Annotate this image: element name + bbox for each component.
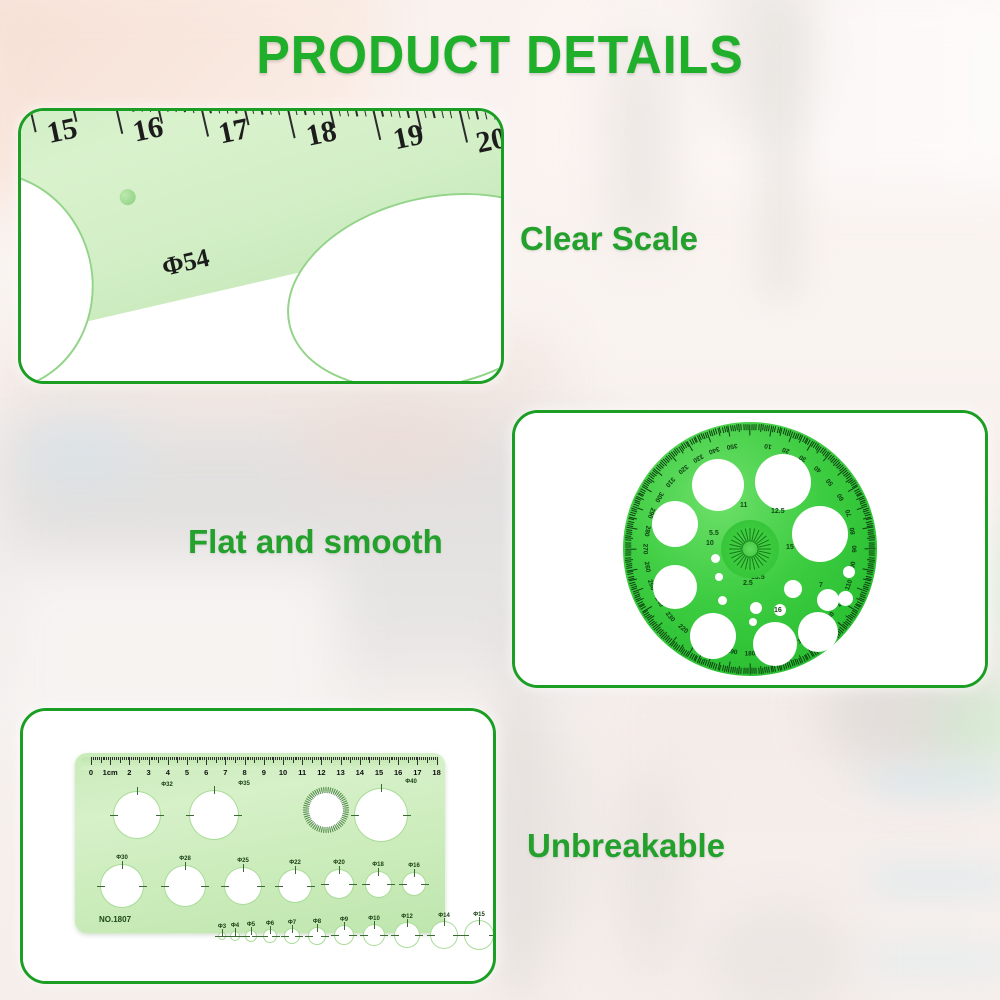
scale-tick bbox=[268, 757, 269, 760]
ruler-tick bbox=[60, 108, 65, 110]
scale-tick bbox=[348, 757, 349, 760]
hole-size-label: 15 bbox=[786, 544, 794, 551]
scale-tick bbox=[364, 757, 365, 760]
scale-tick bbox=[104, 757, 105, 760]
hole-crosshair bbox=[260, 936, 268, 937]
hole-size-label: Φ3 bbox=[218, 924, 226, 930]
scale-tick bbox=[410, 757, 411, 760]
template-hole bbox=[190, 791, 238, 839]
protractor-degree-label: 330 bbox=[691, 452, 704, 463]
protractor-degree-label: 90 bbox=[852, 545, 859, 552]
scale-number: 17 bbox=[413, 768, 421, 777]
scale-tick bbox=[191, 757, 192, 760]
scale-number: 8 bbox=[243, 768, 247, 777]
scale-tick bbox=[168, 757, 169, 765]
protractor-tick bbox=[760, 424, 762, 432]
hole-crosshair bbox=[321, 884, 329, 885]
protractor-tick bbox=[625, 557, 631, 558]
hole-size-label: 11 bbox=[740, 502, 747, 509]
hole-size-label: Φ35 bbox=[238, 781, 250, 787]
hole-crosshair bbox=[272, 936, 280, 937]
protractor-degree-label: 280 bbox=[642, 525, 651, 537]
hole-size-label: Φ14 bbox=[438, 913, 450, 919]
protractor-tick bbox=[625, 540, 631, 541]
template-hole bbox=[753, 622, 797, 666]
scale-tick bbox=[208, 757, 209, 760]
scale-tick bbox=[250, 757, 251, 760]
scale-tick bbox=[176, 757, 177, 760]
scale-tick bbox=[385, 757, 386, 760]
scale-tick bbox=[320, 757, 321, 760]
scale-tick bbox=[233, 757, 234, 760]
hole-crosshair bbox=[242, 936, 250, 937]
hole-crosshair bbox=[414, 869, 415, 877]
scale-tick bbox=[341, 757, 342, 765]
template-hole bbox=[165, 866, 205, 906]
protractor-degree-label: 340 bbox=[708, 445, 721, 455]
feature-panel-flat-and-smooth: 1020304050607080901001101201301401501601… bbox=[512, 410, 988, 688]
hole-crosshair bbox=[137, 787, 138, 795]
caption-flat-and-smooth: Flat and smooth bbox=[188, 523, 443, 561]
scale-tick bbox=[325, 757, 326, 760]
scale-tick bbox=[416, 757, 417, 760]
scale-tick bbox=[277, 757, 278, 760]
scale-tick bbox=[283, 757, 284, 765]
scale-tick bbox=[400, 757, 401, 760]
scale-tick bbox=[333, 757, 334, 760]
scale-tick bbox=[398, 757, 399, 765]
scale-tick bbox=[270, 757, 271, 760]
scale-tick bbox=[197, 757, 198, 763]
hole-crosshair bbox=[185, 862, 186, 870]
scale-tick bbox=[369, 757, 370, 763]
scale-tick bbox=[281, 757, 282, 760]
hole-crosshair bbox=[234, 815, 242, 816]
hole-crosshair bbox=[186, 815, 194, 816]
hole-crosshair bbox=[380, 935, 388, 936]
scale-tick bbox=[368, 757, 369, 760]
hole-crosshair bbox=[407, 919, 408, 927]
hole-crosshair bbox=[97, 886, 105, 887]
scale-tick bbox=[291, 757, 292, 760]
hole-size-label: Φ9 bbox=[340, 917, 348, 923]
scale-tick bbox=[350, 757, 351, 763]
scale-tick bbox=[392, 757, 393, 760]
scale-tick bbox=[177, 757, 178, 763]
hole-crosshair bbox=[415, 935, 423, 936]
protractor-degree-label: 110 bbox=[844, 579, 854, 591]
hole-crosshair bbox=[339, 866, 340, 874]
protractor-tick bbox=[869, 555, 875, 556]
scale-tick bbox=[375, 757, 376, 760]
hole-crosshair bbox=[351, 815, 359, 816]
scale-number: 4 bbox=[166, 768, 170, 777]
scale-tick bbox=[408, 757, 409, 763]
protractor-tick bbox=[756, 424, 757, 430]
scale-tick bbox=[101, 757, 102, 763]
scale-tick bbox=[202, 757, 203, 760]
scale-tick bbox=[327, 757, 328, 760]
scale-tick bbox=[224, 757, 225, 760]
scale-tick bbox=[387, 757, 388, 760]
scale-tick bbox=[114, 757, 115, 760]
scale-tick bbox=[256, 757, 257, 760]
scale-tick bbox=[216, 757, 217, 763]
scale-tick bbox=[264, 757, 265, 765]
hole-crosshair bbox=[305, 936, 313, 937]
hole-size-label: Φ4 bbox=[231, 923, 239, 929]
hole-crosshair bbox=[427, 935, 435, 936]
hole-crosshair bbox=[403, 815, 411, 816]
scale-tick bbox=[323, 757, 324, 760]
scale-tick bbox=[287, 757, 288, 760]
hole-crosshair bbox=[110, 815, 118, 816]
protractor-degree-label: 230 bbox=[663, 610, 675, 623]
hole-crosshair bbox=[399, 884, 407, 885]
protractor-tick bbox=[747, 424, 748, 430]
page-title: PRODUCT DETAILS bbox=[35, 24, 965, 86]
caption-clear-scale: Clear Scale bbox=[520, 220, 698, 258]
caption-unbreakable: Unbreakable bbox=[527, 827, 725, 865]
scale-number: 9 bbox=[262, 768, 266, 777]
scale-tick bbox=[310, 757, 311, 760]
scale-tick bbox=[318, 757, 319, 760]
template-hole bbox=[784, 580, 802, 598]
hole-crosshair bbox=[270, 926, 271, 934]
protractor-degree-label: 40 bbox=[812, 464, 822, 474]
hole-size-label: 5.5 bbox=[709, 530, 719, 537]
scale-number: 11 bbox=[298, 768, 306, 777]
hole-crosshair bbox=[453, 935, 461, 936]
scale-tick bbox=[241, 757, 242, 760]
ruler-tick bbox=[52, 108, 57, 110]
scale-tick bbox=[112, 757, 113, 760]
scale-tick bbox=[293, 757, 294, 763]
feature-panel-unbreakable: 01cm23456789101112131415161718 Φ32Φ35Φ38… bbox=[20, 708, 496, 984]
protractor-tick bbox=[869, 557, 875, 558]
protractor-tick bbox=[762, 668, 764, 674]
scale-tick bbox=[406, 757, 407, 760]
scale-tick bbox=[225, 757, 226, 765]
scale-tick bbox=[239, 757, 240, 760]
protractor-tick bbox=[758, 668, 759, 674]
scale-tick bbox=[396, 757, 397, 760]
protractor-tick bbox=[741, 668, 742, 674]
mini-protractor-dial bbox=[303, 787, 349, 833]
protractor-degree-label: 300 bbox=[653, 490, 664, 503]
protractor-tick bbox=[747, 668, 748, 674]
scale-tick bbox=[377, 757, 378, 760]
scale-tick bbox=[394, 757, 395, 760]
protractor-degree-label: 270 bbox=[642, 544, 649, 555]
template-hole bbox=[843, 566, 855, 578]
hole-crosshair bbox=[307, 886, 315, 887]
protractor-degree-label: 70 bbox=[844, 508, 853, 517]
scale-tick bbox=[154, 757, 155, 760]
scale-tick bbox=[352, 757, 353, 760]
template-hole bbox=[798, 612, 838, 652]
hole-crosshair bbox=[292, 925, 293, 933]
circle-template-ruler: 01cm23456789101112131415161718 Φ32Φ35Φ38… bbox=[75, 753, 445, 933]
hole-crosshair bbox=[391, 935, 399, 936]
ruler-tick bbox=[43, 108, 48, 109]
protractor-tick bbox=[869, 544, 875, 545]
template-hole bbox=[750, 602, 762, 614]
hole-crosshair bbox=[227, 936, 235, 937]
circular-protractor: 1020304050607080901001101201301401501601… bbox=[623, 422, 877, 676]
template-hole bbox=[114, 792, 160, 838]
scale-tick bbox=[103, 757, 104, 760]
protractor-tick bbox=[758, 424, 759, 430]
scale-tick bbox=[135, 757, 136, 760]
hole-crosshair bbox=[222, 929, 223, 937]
protractor-degree-label: 10 bbox=[764, 442, 772, 450]
scale-number: 2 bbox=[127, 768, 131, 777]
protractor-degree-label: 310 bbox=[663, 475, 675, 488]
scale-tick bbox=[199, 757, 200, 760]
scale-number: 18 bbox=[432, 768, 440, 777]
hole-crosshair bbox=[344, 922, 345, 930]
scale-tick bbox=[289, 757, 290, 760]
scale-number: 3 bbox=[147, 768, 151, 777]
scale-tick bbox=[166, 757, 167, 760]
scale-tick bbox=[129, 757, 130, 765]
hole-crosshair bbox=[331, 935, 339, 936]
template-hole bbox=[755, 454, 811, 510]
protractor-tick bbox=[869, 542, 875, 543]
scale-tick bbox=[383, 757, 384, 760]
protractor-tick bbox=[869, 540, 875, 541]
scale-tick bbox=[95, 757, 96, 760]
scale-tick bbox=[273, 757, 274, 763]
scale-tick bbox=[131, 757, 132, 760]
scale-tick bbox=[247, 757, 248, 760]
hole-crosshair bbox=[235, 928, 236, 936]
scale-tick bbox=[316, 757, 317, 760]
scale-tick bbox=[252, 757, 253, 760]
scale-tick bbox=[302, 757, 303, 765]
scale-tick bbox=[206, 757, 207, 765]
scale-tick bbox=[164, 757, 165, 760]
scale-tick bbox=[266, 757, 267, 760]
scale-tick bbox=[170, 757, 171, 760]
template-hole bbox=[225, 868, 261, 904]
rectangular-template-photo: 01cm23456789101112131415161718 Φ32Φ35Φ38… bbox=[23, 711, 493, 981]
template-hole bbox=[792, 506, 848, 562]
scale-tick bbox=[245, 757, 246, 765]
hole-size-label: 7 bbox=[819, 582, 823, 589]
scale-tick bbox=[133, 757, 134, 760]
scale-tick bbox=[248, 757, 249, 760]
scale-tick bbox=[222, 757, 223, 760]
scale-tick bbox=[389, 757, 390, 763]
scale-tick bbox=[189, 757, 190, 760]
protractor-tick bbox=[625, 544, 631, 545]
hole-crosshair bbox=[295, 866, 296, 874]
hole-crosshair bbox=[221, 886, 229, 887]
hole-crosshair bbox=[252, 936, 260, 937]
scale-number: 6 bbox=[204, 768, 208, 777]
protractor-tick bbox=[760, 666, 762, 674]
scale-tick bbox=[122, 757, 123, 760]
hole-size-label: Φ22 bbox=[289, 860, 301, 866]
hole-crosshair bbox=[122, 861, 123, 869]
scale-tick bbox=[174, 757, 175, 760]
protractor-tick bbox=[745, 424, 746, 430]
ruler-edge: 15 16 17 18 19 20 Φ54 bbox=[18, 108, 504, 384]
scale-tick bbox=[296, 757, 297, 760]
hole-crosshair bbox=[214, 786, 215, 794]
scale-tick bbox=[193, 757, 194, 760]
scale-tick bbox=[417, 757, 418, 765]
scale-tick bbox=[110, 757, 111, 765]
scale-tick bbox=[343, 757, 344, 760]
scale-tick bbox=[339, 757, 340, 760]
hole-size-label: Φ18 bbox=[372, 862, 384, 868]
scale-tick bbox=[195, 757, 196, 760]
scale-tick bbox=[126, 757, 127, 760]
template-hole bbox=[817, 589, 839, 611]
hole-crosshair bbox=[479, 917, 480, 925]
scale-tick bbox=[275, 757, 276, 760]
protractor-tick bbox=[741, 424, 742, 430]
ruler-macro-photo: 15 16 17 18 19 20 Φ54 bbox=[21, 111, 501, 381]
hole-crosshair bbox=[275, 886, 283, 887]
scale-tick bbox=[235, 757, 236, 763]
scale-tick bbox=[272, 757, 273, 760]
scale-tick bbox=[93, 757, 94, 760]
scale-tick bbox=[124, 757, 125, 760]
scale-number: 12 bbox=[317, 768, 325, 777]
scale-tick bbox=[435, 757, 436, 760]
hole-crosshair bbox=[161, 886, 169, 887]
scale-tick bbox=[308, 757, 309, 760]
protractor-degree-label: 320 bbox=[676, 462, 689, 474]
scale-tick bbox=[306, 757, 307, 760]
hole-crosshair bbox=[489, 935, 496, 936]
scale-tick bbox=[149, 757, 150, 765]
hole-size-label: 12.5 bbox=[771, 508, 785, 515]
scale-tick bbox=[304, 757, 305, 760]
protractor-tick bbox=[745, 668, 746, 674]
scale-number: 15 bbox=[375, 768, 383, 777]
scale-tick bbox=[425, 757, 426, 760]
scale-tick bbox=[321, 757, 322, 765]
hole-size-label: Φ6 bbox=[266, 921, 274, 927]
protractor-tick bbox=[867, 559, 875, 561]
protractor-degree-label: 60 bbox=[836, 492, 846, 502]
hole-crosshair bbox=[156, 815, 164, 816]
hole-crosshair bbox=[444, 918, 445, 926]
scale-tick bbox=[371, 757, 372, 760]
hole-crosshair bbox=[360, 935, 368, 936]
scale-tick bbox=[262, 757, 263, 760]
hole-size-label: Φ5 bbox=[247, 922, 255, 928]
hole-crosshair bbox=[378, 868, 379, 876]
protractor-tick bbox=[867, 573, 873, 575]
protractor-degree-label: 50 bbox=[825, 476, 835, 486]
protractor-tick bbox=[743, 668, 744, 674]
hole-crosshair bbox=[349, 935, 357, 936]
scale-tick bbox=[419, 757, 420, 760]
scale-tick bbox=[158, 757, 159, 763]
scale-tick bbox=[183, 757, 184, 760]
hole-crosshair bbox=[201, 886, 209, 887]
scale-tick bbox=[137, 757, 138, 760]
scale-tick bbox=[172, 757, 173, 760]
protractor-degree-label: 80 bbox=[849, 527, 857, 535]
hole-crosshair bbox=[381, 784, 382, 792]
protractor-tick bbox=[756, 668, 757, 674]
scale-tick bbox=[218, 757, 219, 760]
template-hole bbox=[653, 565, 697, 609]
scale-number: 14 bbox=[356, 768, 364, 777]
protractor-tick bbox=[869, 546, 875, 547]
hole-size-label: Φ8 bbox=[313, 919, 321, 925]
hole-size-label: Φ32 bbox=[161, 782, 173, 788]
hole-size-label: Φ28 bbox=[179, 856, 191, 862]
protractor-degree-label: 350 bbox=[726, 441, 738, 450]
scale-number: 10 bbox=[279, 768, 287, 777]
scale-tick bbox=[145, 757, 146, 760]
hole-size-label: Φ30 bbox=[116, 855, 128, 861]
hole-crosshair bbox=[317, 924, 318, 932]
scale-tick bbox=[358, 757, 359, 760]
scale-tick bbox=[139, 757, 140, 763]
protractor-tick bbox=[625, 542, 631, 543]
scale-tick bbox=[108, 757, 109, 760]
hole-size-label: Φ16 bbox=[408, 863, 420, 869]
model-number: NO.1807 bbox=[99, 915, 131, 924]
scale-tick bbox=[204, 757, 205, 760]
scale-tick bbox=[214, 757, 215, 760]
scale-tick bbox=[156, 757, 157, 760]
scale-tick bbox=[237, 757, 238, 760]
hole-crosshair bbox=[281, 936, 289, 937]
scale-tick bbox=[423, 757, 424, 760]
scale-tick bbox=[431, 757, 432, 760]
scale-number: 5 bbox=[185, 768, 189, 777]
feature-panel-clear-scale: 15 16 17 18 19 20 Φ54 bbox=[18, 108, 504, 384]
circular-protractor-photo: 1020304050607080901001101201301401501601… bbox=[515, 413, 985, 685]
protractor-tick bbox=[625, 548, 636, 549]
template-hole bbox=[690, 613, 736, 659]
hole-size-label: Φ15 bbox=[473, 912, 485, 918]
scale-number: 7 bbox=[223, 768, 227, 777]
protractor-degree-label: 220 bbox=[676, 623, 689, 635]
scale-tick bbox=[362, 757, 363, 760]
template-hole bbox=[718, 596, 727, 605]
scale-tick bbox=[227, 757, 228, 760]
scale-tick bbox=[143, 757, 144, 760]
protractor-tick bbox=[776, 665, 778, 671]
scale-tick bbox=[99, 757, 100, 760]
hole-size-label: 16 bbox=[774, 607, 782, 614]
template-hole bbox=[711, 554, 720, 563]
scale-tick bbox=[160, 757, 161, 760]
scale-tick bbox=[295, 757, 296, 760]
scale-tick bbox=[300, 757, 301, 760]
scale-tick bbox=[91, 757, 92, 765]
scale-tick bbox=[427, 757, 428, 763]
scale-tick bbox=[285, 757, 286, 760]
hole-crosshair bbox=[461, 935, 469, 936]
scale-tick bbox=[120, 757, 121, 763]
template-hole bbox=[652, 501, 698, 547]
scale-tick bbox=[312, 757, 313, 763]
scale-tick bbox=[181, 757, 182, 760]
scale-tick bbox=[379, 757, 380, 765]
